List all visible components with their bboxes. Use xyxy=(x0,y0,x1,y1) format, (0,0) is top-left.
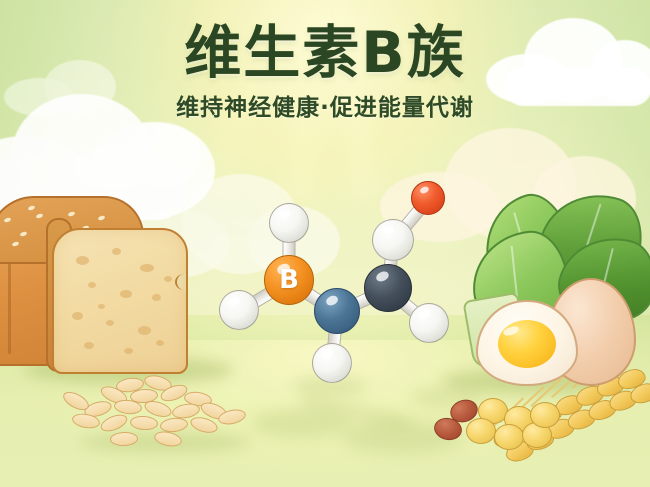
page-title: 维生素B族 xyxy=(0,24,650,83)
bread-loaf xyxy=(0,196,206,376)
bread-slice xyxy=(52,228,188,374)
bread-crust-line xyxy=(8,262,11,354)
soy-bean xyxy=(494,424,524,450)
vitamin-b-poster: B 维生素B族 维持神经健康·促进能量代谢 xyxy=(0,0,650,487)
page-subtitle: 维持神经健康·促进能量代谢 xyxy=(0,95,650,123)
soy-bean xyxy=(466,418,496,444)
bean-group xyxy=(444,396,564,454)
title-block: 维生素B族 维持神经健康·促进能量代谢 xyxy=(0,24,650,123)
molecule-shadow-a xyxy=(292,376,368,396)
soy-bean xyxy=(530,402,560,428)
oat-pile xyxy=(66,376,256,452)
